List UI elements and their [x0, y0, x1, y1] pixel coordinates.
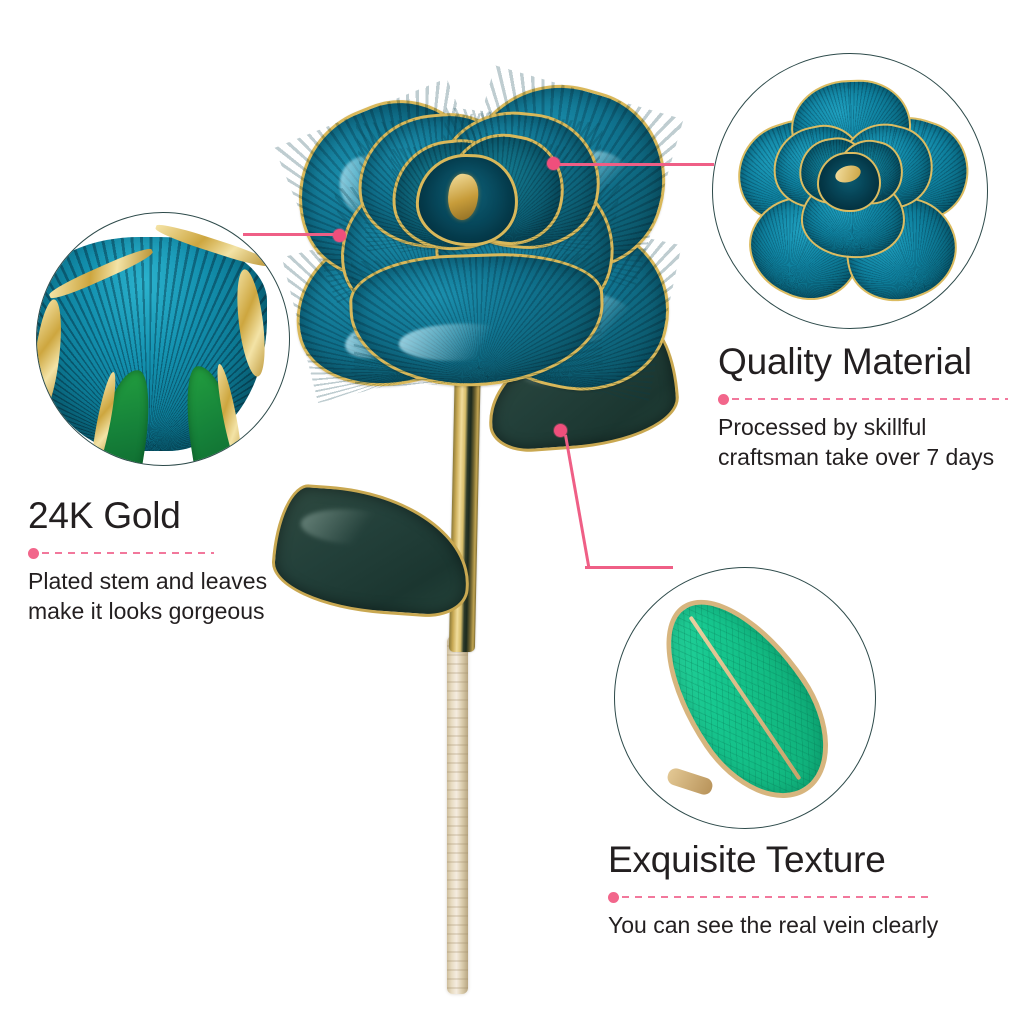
petal-closeup-circle[interactable]	[36, 212, 290, 466]
connector-line-quality	[556, 163, 714, 166]
divider-dashes	[42, 552, 214, 554]
divider-dot-icon	[608, 892, 619, 903]
feature-body-quality: Processed by skillful craftsman take ove…	[718, 412, 1018, 473]
connector-dot-quality	[547, 157, 560, 170]
feature-title-gold: 24K Gold	[28, 496, 358, 537]
leaf-closeup-circle[interactable]	[614, 567, 876, 829]
connector-line-texture-horizontal	[585, 566, 673, 569]
rose-petal-front	[348, 250, 606, 391]
feature-block-quality: Quality Material Processed by skillful c…	[718, 342, 1018, 472]
connector-dot-gold	[333, 229, 346, 242]
leaf-detail-image	[632, 571, 858, 825]
infographic-canvas: 24K Gold Plated stem and leaves make it …	[0, 0, 1024, 1024]
connector-line-gold	[243, 233, 343, 236]
divider-dashes	[732, 398, 1008, 400]
rose-top-view-image	[735, 82, 965, 300]
feature-block-texture: Exquisite Texture You can see the real v…	[608, 840, 1008, 940]
divider-dot-icon	[718, 394, 729, 405]
feature-divider-quality	[718, 392, 1018, 406]
divider-dot-icon	[28, 548, 39, 559]
feature-body-gold: Plated stem and leaves make it looks gor…	[28, 566, 358, 627]
feature-body-texture: You can see the real vein clearly	[608, 910, 1008, 940]
rose-stem-lower	[447, 636, 468, 994]
feature-block-gold: 24K Gold Plated stem and leaves make it …	[28, 496, 358, 626]
feature-divider-texture	[608, 890, 1008, 904]
divider-dashes	[622, 896, 934, 898]
rose-top-view-circle[interactable]	[712, 53, 988, 329]
leaf-stemlet	[665, 766, 714, 796]
feature-title-quality: Quality Material	[718, 342, 1018, 383]
connector-dot-texture	[554, 424, 567, 437]
feature-title-texture: Exquisite Texture	[608, 840, 1008, 881]
feature-divider-gold	[28, 546, 358, 560]
